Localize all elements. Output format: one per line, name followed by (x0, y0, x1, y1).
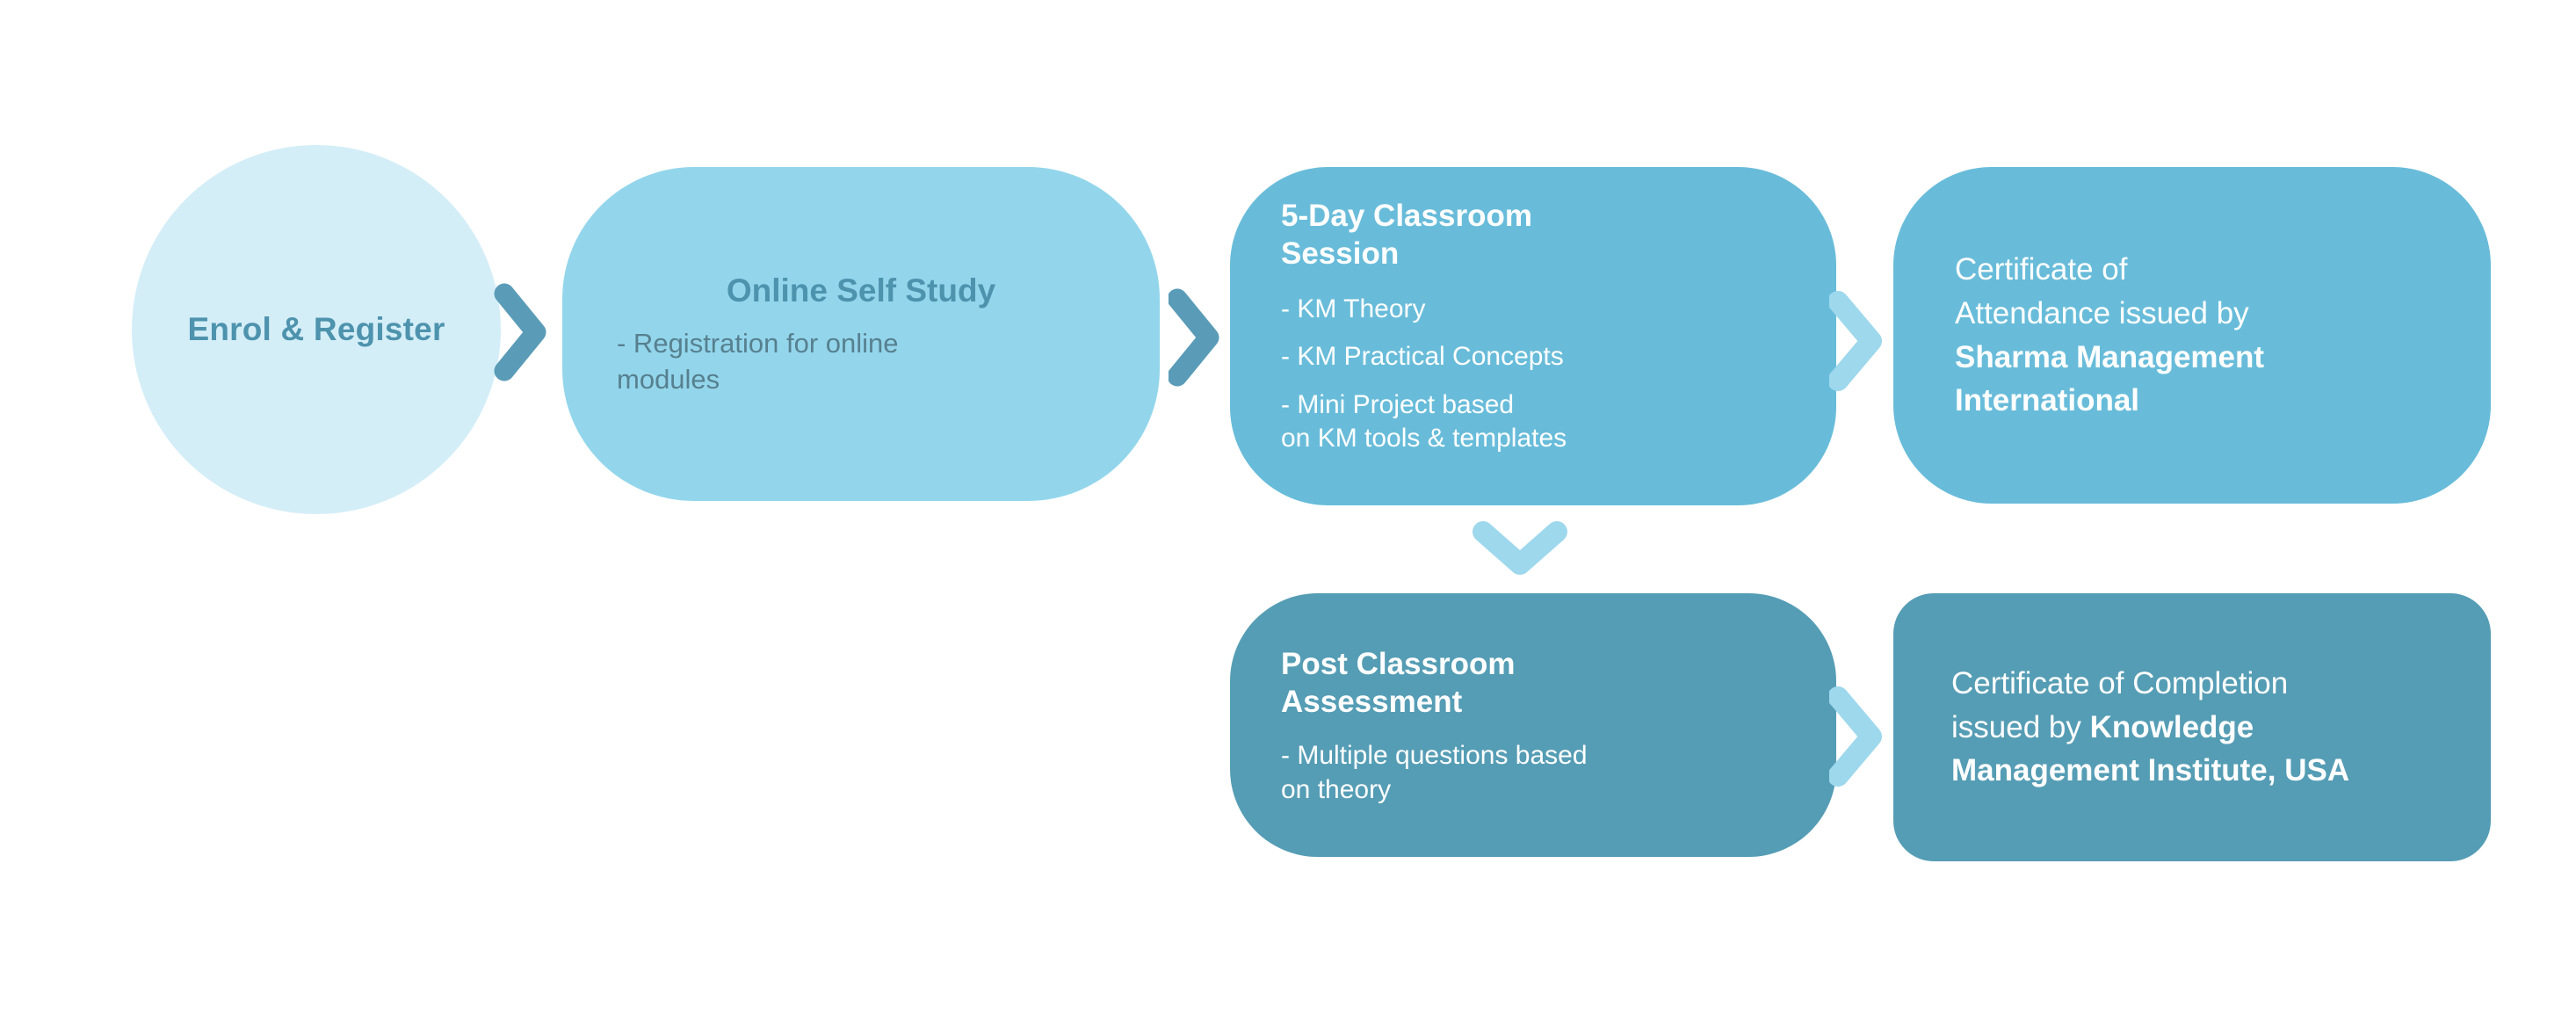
node-classroom-session-bullet-1: - KM Theory (1281, 293, 1785, 326)
connector-online-to-classroom (1169, 288, 1223, 387)
node-classroom-session-bullet-2: - KM Practical Concepts (1281, 340, 1785, 374)
node-certificate-attendance-text: Certificate of Attendance issued by Shar… (1955, 248, 2429, 423)
chevron-right-icon (1169, 288, 1223, 387)
connector-classroom-to-assessment (1472, 520, 1568, 577)
completion-line-1: Certificate of Completion (1951, 666, 2288, 700)
attendance-line-2: Attendance issued by (1955, 296, 2249, 330)
node-classroom-session-title: 5-Day Classroom Session (1281, 197, 1785, 273)
node-enrol-register-title: Enrol & Register (187, 307, 445, 353)
connector-assessment-to-completion (1829, 686, 1887, 787)
node-enrol-register[interactable]: Enrol & Register (132, 145, 501, 514)
chevron-right-icon (1829, 686, 1887, 787)
flow-diagram-canvas: Enrol & Register Online Self Study - Reg… (0, 0, 2576, 1016)
chevron-right-icon (494, 283, 548, 381)
completion-line-2: issued by (1951, 710, 2090, 744)
node-online-self-study-title: Online Self Study (617, 270, 1105, 312)
node-online-self-study[interactable]: Online Self Study - Registration for onl… (562, 167, 1160, 501)
node-online-self-study-bullet-1: - Registration for online modules (617, 325, 1105, 398)
connector-classroom-to-attendance (1829, 290, 1887, 392)
node-post-classroom-assessment-bullet-1: - Multiple questions based on theory (1281, 738, 1785, 807)
node-certificate-completion[interactable]: Certificate of Completion issued by Know… (1893, 593, 2491, 861)
attendance-line-1: Certificate of (1955, 252, 2127, 287)
connector-enrol-to-online (494, 283, 548, 381)
chevron-right-icon (1829, 290, 1887, 392)
node-classroom-session-bullet-3: - Mini Project based on KM tools & templ… (1281, 388, 1785, 456)
chevron-down-icon (1472, 520, 1568, 577)
attendance-issuer: Sharma Management International (1955, 340, 2264, 418)
node-classroom-session[interactable]: 5-Day Classroom Session - KM Theory - KM… (1230, 167, 1836, 505)
node-certificate-completion-text: Certificate of Completion issued by Know… (1951, 662, 2433, 793)
node-certificate-attendance[interactable]: Certificate of Attendance issued by Shar… (1893, 167, 2491, 504)
node-post-classroom-assessment-title: Post Classroom Assessment (1281, 645, 1785, 722)
node-post-classroom-assessment[interactable]: Post Classroom Assessment - Multiple que… (1230, 593, 1836, 857)
